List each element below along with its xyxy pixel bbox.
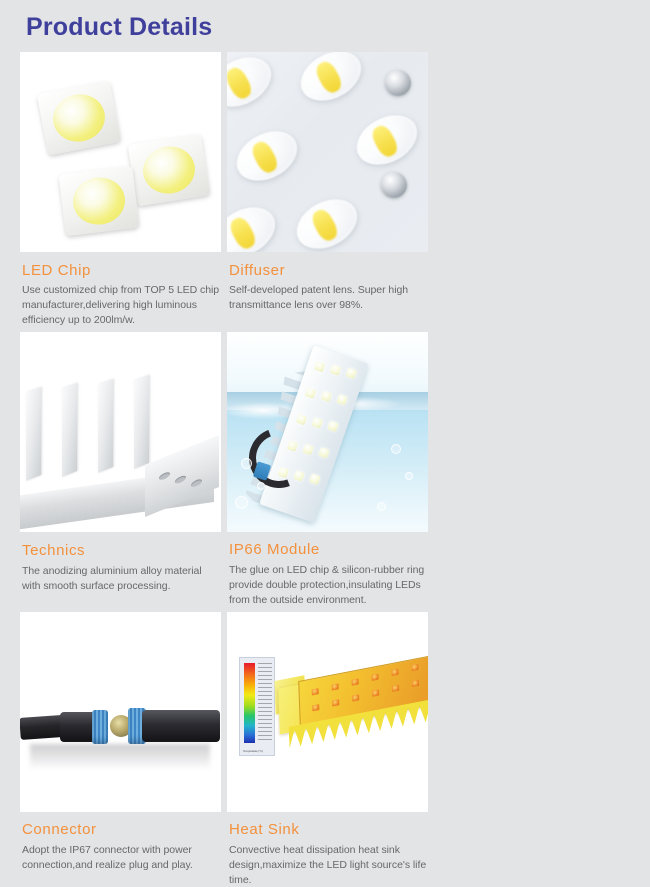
feature-card-connector: Connector Adopt the IP67 connector with … [20, 612, 221, 887]
feature-title: LED Chip [22, 262, 221, 279]
led-chip-package-icon [37, 80, 121, 155]
feature-card-heat-sink: Temperature (°C) [227, 612, 428, 887]
heatsink-fin-icon [62, 383, 77, 477]
connector-image [20, 612, 221, 812]
feature-title: Heat Sink [229, 821, 428, 838]
led-chip-package-icon [128, 133, 211, 206]
diffuser-image [227, 52, 428, 252]
feature-card-technics: Technics The anodizing aluminium alloy m… [20, 332, 221, 607]
connector-reflection [30, 744, 210, 770]
feature-card-led-chip: LED Chip Use customized chip from TOP 5 … [20, 52, 221, 328]
led-chip-package-icon [58, 165, 139, 236]
heat-sink-image: Temperature (°C) [227, 612, 428, 812]
technics-image [20, 332, 221, 532]
feature-description: The glue on LED chip & silicon-rubber ri… [229, 563, 428, 608]
feature-description: The anodizing aluminium alloy material w… [22, 564, 221, 594]
feature-title: Connector [22, 821, 221, 838]
temperature-legend: Temperature (°C) [239, 657, 275, 756]
connector-socket-body [142, 710, 220, 742]
feature-description: Adopt the IP67 connector with power conn… [22, 843, 221, 873]
heatsink-fin-icon [98, 379, 113, 473]
screw-icon [381, 172, 407, 198]
temperature-legend-caption: Temperature (°C) [243, 749, 263, 753]
feature-card-diffuser: Diffuser Self-developed patent lens. Sup… [227, 52, 428, 328]
feature-description: Convective heat dissipation heat sink de… [229, 843, 428, 887]
feature-description: Use customized chip from TOP 5 LED chip … [22, 283, 221, 328]
page-title: Product Details [20, 0, 630, 52]
temperature-tick-labels [258, 663, 272, 743]
mounting-hole-icon [191, 478, 202, 488]
temperature-colorbar [244, 663, 255, 743]
heatsink-fin-icon [134, 375, 149, 469]
ip66-module-image [227, 332, 428, 532]
feature-card-ip66-module: IP66 Module The glue on LED chip & silic… [227, 332, 428, 607]
connector-locking-ring-icon [92, 710, 108, 744]
screw-icon [385, 70, 411, 96]
feature-description: Self-developed patent lens. Super high t… [229, 283, 428, 313]
product-details-page: Product Details LED Chip Use customized … [0, 0, 650, 638]
product-feature-grid: LED Chip Use customized chip from TOP 5 … [20, 52, 630, 887]
feature-title: IP66 Module [229, 541, 428, 558]
led-chip-image [20, 52, 221, 252]
mounting-hole-icon [159, 471, 170, 481]
feature-title: Diffuser [229, 262, 428, 279]
feature-title: Technics [22, 542, 221, 559]
heatsink-fin-icon [26, 387, 41, 481]
mounting-hole-icon [175, 475, 186, 485]
